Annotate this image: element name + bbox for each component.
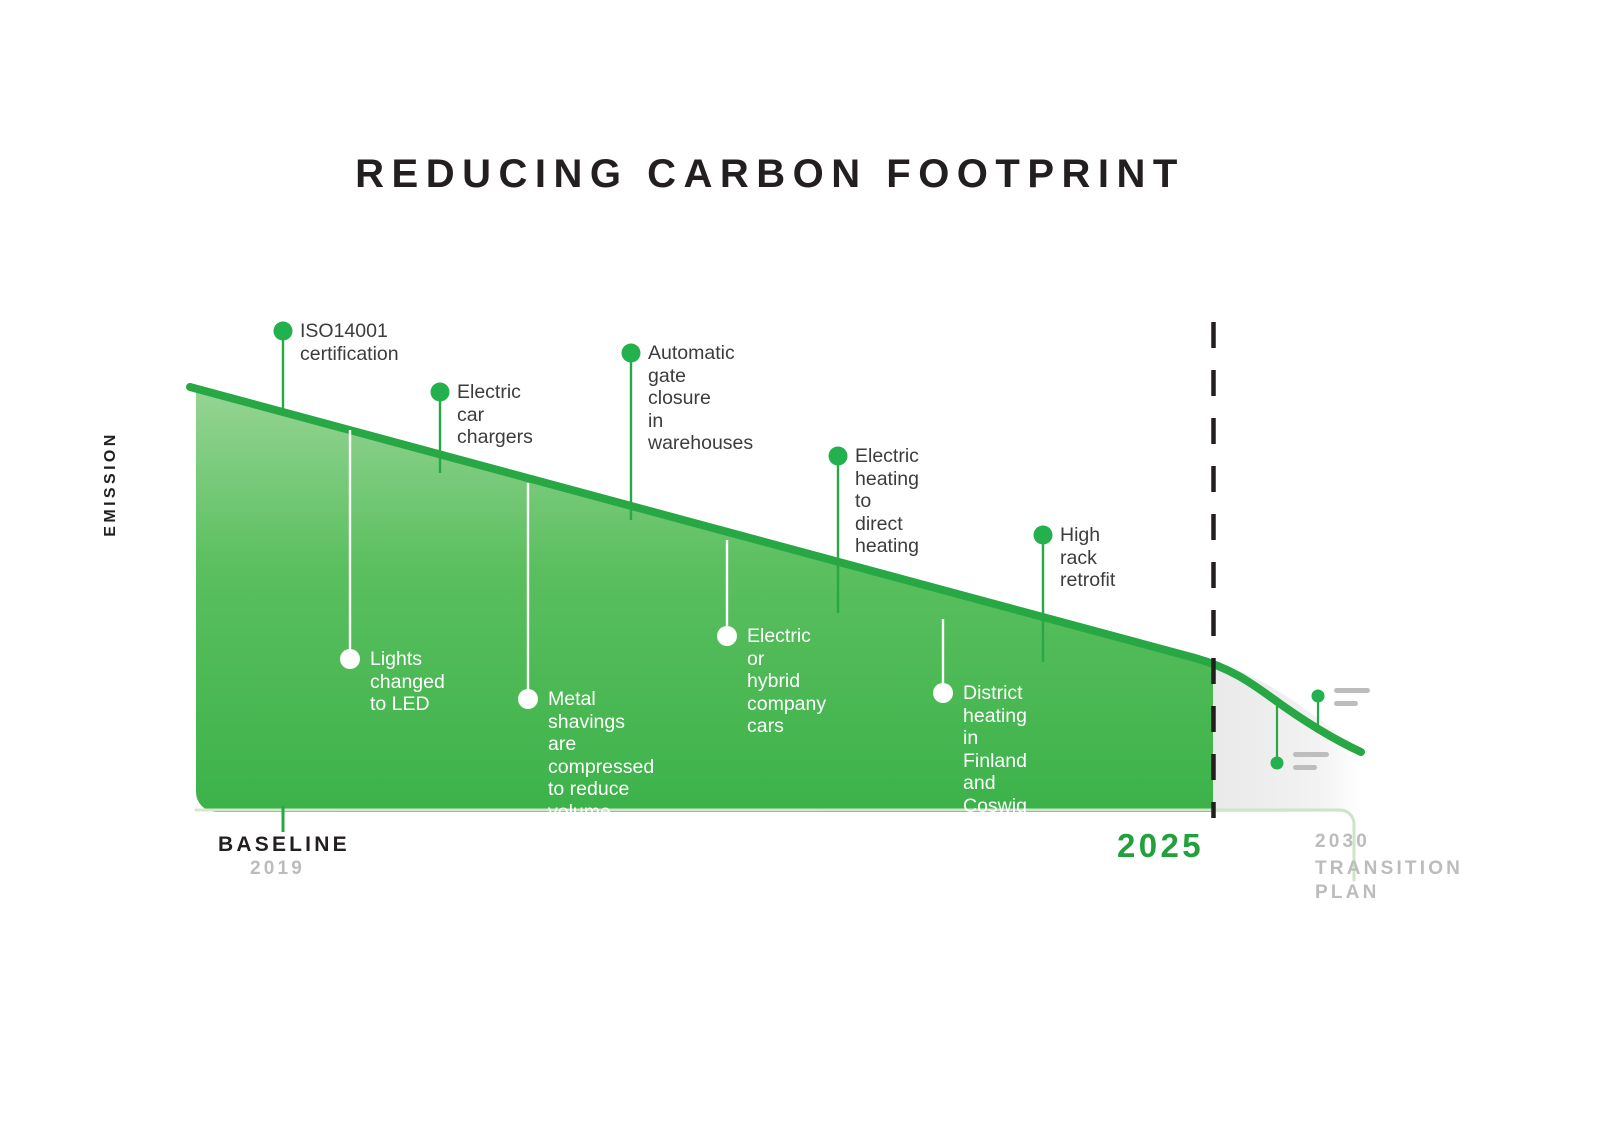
- callout-dot[interactable]: [274, 322, 293, 341]
- callout-dot[interactable]: [933, 683, 953, 703]
- callout-dot[interactable]: [622, 344, 641, 363]
- callout-label: District heating in Finland and Coswig: [963, 682, 1027, 817]
- callout-label: High rack retrofit: [1060, 524, 1115, 592]
- future-marker-dot[interactable]: [1312, 690, 1325, 703]
- callout-label: Metal shavings are compressed to reduce …: [548, 688, 654, 823]
- axis-label-2030: 2030: [1315, 831, 1370, 853]
- callout-label: Electric car chargers: [457, 381, 533, 449]
- callout-dot[interactable]: [829, 447, 848, 466]
- callout-dot[interactable]: [717, 626, 737, 646]
- axis-label-transition-plan: TRANSITION PLAN: [1315, 857, 1463, 905]
- emission-curve-chart: [0, 0, 1599, 1130]
- callout-label: ISO14001 certification: [300, 320, 399, 365]
- callout-label: Electric heating to direct heating: [855, 445, 919, 558]
- callout-dot[interactable]: [518, 689, 538, 709]
- future-placeholder-bar: [1334, 701, 1358, 706]
- axis-label-2025: 2025: [1117, 827, 1204, 865]
- callout-dot[interactable]: [340, 649, 360, 669]
- future-marker-dot[interactable]: [1271, 757, 1284, 770]
- callout-label: Lights changed to LED: [370, 648, 445, 716]
- callout-dot[interactable]: [431, 383, 450, 402]
- future-placeholder-bar: [1334, 688, 1370, 693]
- callout-label: Automatic gate closure in warehouses: [648, 342, 753, 455]
- axis-label-baseline-year: 2019: [250, 858, 305, 880]
- future-placeholder-bar: [1293, 765, 1317, 770]
- callout-label: Electric or hybrid company cars: [747, 625, 826, 738]
- callout-dot[interactable]: [1034, 526, 1053, 545]
- infographic-canvas: REDUCING CARBON FOOTPRINT EMISSION: [0, 0, 1599, 1130]
- future-placeholder-bar: [1293, 752, 1329, 757]
- axis-label-baseline: BASELINE: [218, 833, 350, 857]
